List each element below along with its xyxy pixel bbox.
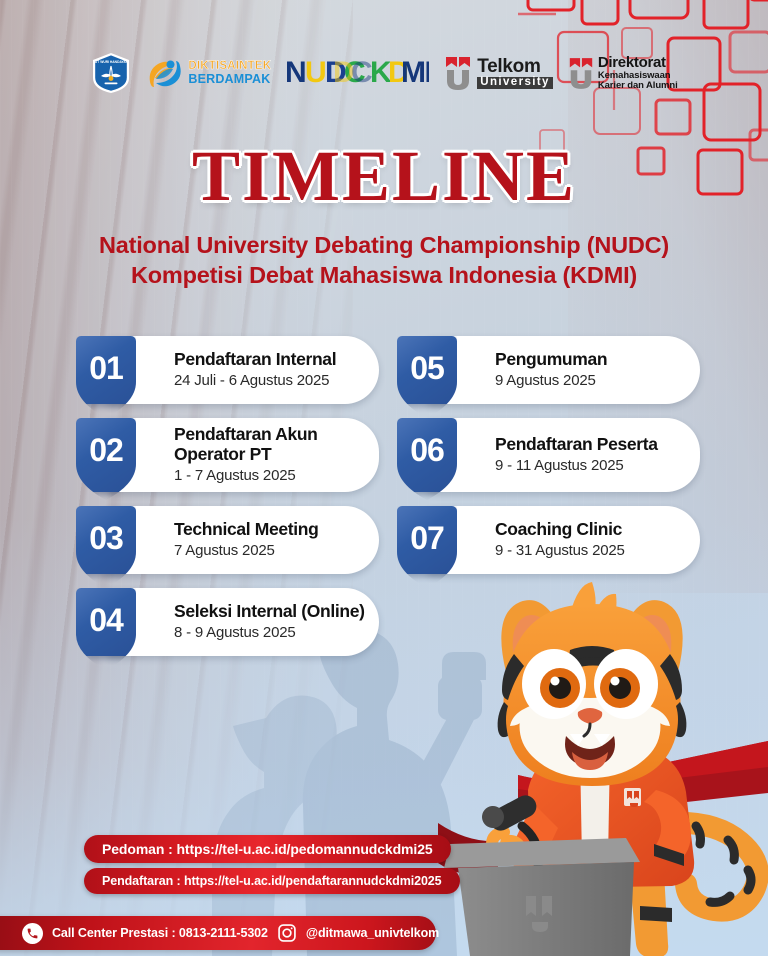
timeline-title: Pendaftaran Akun Operator PT xyxy=(174,425,367,464)
timeline-number: 04 xyxy=(89,604,123,636)
call-center-text: Call Center Prestasi : 0813-2111-5302 xyxy=(52,926,268,940)
svg-text:N: N xyxy=(285,56,305,89)
timeline-item-06: Pendaftaran Peserta 9 - 11 Agustus 2025 … xyxy=(397,418,700,492)
link-pills: Pedoman : https://tel-u.ac.id/pedomannud… xyxy=(84,835,460,894)
timeline-date: 7 Agustus 2025 xyxy=(174,542,367,560)
page-title: TIMELINE xyxy=(0,140,768,212)
timeline-card: Seleksi Internal (Online) 8 - 9 Agustus … xyxy=(106,588,379,656)
instagram-icon[interactable] xyxy=(277,923,297,943)
timeline-date: 9 - 31 Agustus 2025 xyxy=(495,542,688,560)
phone-icon xyxy=(22,923,43,944)
svg-text:TUT WURI HANDAYANI: TUT WURI HANDAYANI xyxy=(93,60,129,64)
timeline-number-badge: 01 xyxy=(76,336,136,404)
timeline-item-05: Pengumuman 9 Agustus 2025 05 xyxy=(397,336,700,404)
timeline-number-badge: 07 xyxy=(397,506,457,574)
subtitle: National University Debating Championshi… xyxy=(0,230,768,290)
telkom-university-logo: Telkom University xyxy=(443,55,553,91)
timeline-number-badge: 05 xyxy=(397,336,457,404)
diktisaintek-logo: DIKTISAINTEK BERDAMPAK xyxy=(146,56,271,90)
timeline-title: Pendaftaran Internal xyxy=(174,350,367,370)
timeline-item-04: Seleksi Internal (Online) 8 - 9 Agustus … xyxy=(76,588,379,656)
podium xyxy=(444,838,640,956)
logo-bar: TUT WURI HANDAYANI DIKTISAINTEK BERDAMPA… xyxy=(0,52,768,94)
timeline-number: 03 xyxy=(89,522,123,554)
subtitle-line2: Kompetisi Debat Mahasiswa Indonesia (KDM… xyxy=(0,260,768,290)
timeline-date: 9 - 11 Agustus 2025 xyxy=(495,457,688,475)
tiger-mascot xyxy=(444,576,768,956)
timeline-number: 06 xyxy=(410,434,444,466)
svg-text:MI: MI xyxy=(403,56,429,89)
footer-bar: Call Center Prestasi : 0813-2111-5302 @d… xyxy=(0,916,436,950)
direktorat-line1: Direktorat xyxy=(598,55,678,71)
telkom-line1: Telkom xyxy=(477,57,553,76)
timeline-date: 1 - 7 Agustus 2025 xyxy=(174,467,367,485)
telkom-line2: University xyxy=(477,77,553,89)
diktisaintek-line2: BERDAMPAK xyxy=(188,73,271,86)
timeline-number-badge: 04 xyxy=(76,588,136,656)
tut-wuri-handayani-logo: TUT WURI HANDAYANI xyxy=(90,52,132,94)
pendaftaran-link-pill[interactable]: Pendaftaran : https://tel-u.ac.id/pendaf… xyxy=(84,868,460,894)
timeline-number: 02 xyxy=(89,434,123,466)
nudc-kdmi-logo: N U D C K D D C MI xyxy=(285,56,429,90)
timeline-card: Pendaftaran Peserta 9 - 11 Agustus 2025 xyxy=(427,418,700,492)
timeline-title-line1: Pendaftaran Akun xyxy=(174,425,367,445)
timeline-card: Pendaftaran Akun Operator PT 1 - 7 Agust… xyxy=(106,418,379,492)
timeline-title: Coaching Clinic xyxy=(495,520,688,540)
timeline-date: 9 Agustus 2025 xyxy=(495,372,688,390)
timeline-date: 24 Juli - 6 Agustus 2025 xyxy=(174,372,367,390)
svg-text:C: C xyxy=(351,56,372,89)
title-block: TIMELINE National University Debating Ch… xyxy=(0,140,768,290)
pedoman-link-pill[interactable]: Pedoman : https://tel-u.ac.id/pedomannud… xyxy=(84,835,451,863)
timeline-item-02: Pendaftaran Akun Operator PT 1 - 7 Agust… xyxy=(76,418,379,492)
direktorat-logo: Direktorat Kemahasiswaan Karier dan Alum… xyxy=(567,55,678,91)
timeline-date: 8 - 9 Agustus 2025 xyxy=(174,624,367,642)
timeline-item-01: Pendaftaran Internal 24 Juli - 6 Agustus… xyxy=(76,336,379,404)
timeline-card: Coaching Clinic 9 - 31 Agustus 2025 xyxy=(427,506,700,574)
poster-root: TUT WURI HANDAYANI DIKTISAINTEK BERDAMPA… xyxy=(0,0,768,956)
mascot-head xyxy=(498,582,687,786)
timeline-card: Technical Meeting 7 Agustus 2025 xyxy=(106,506,379,574)
timeline-number: 01 xyxy=(89,352,123,384)
timeline-card: Pendaftaran Internal 24 Juli - 6 Agustus… xyxy=(106,336,379,404)
timeline-title: Pendaftaran Peserta xyxy=(495,435,688,455)
timeline-card: Pengumuman 9 Agustus 2025 xyxy=(427,336,700,404)
subtitle-line1: National University Debating Championshi… xyxy=(0,230,768,260)
diktisaintek-mark xyxy=(146,56,184,90)
instagram-handle: @ditmawa_univtelkom xyxy=(306,926,439,940)
timeline-item-03: Technical Meeting 7 Agustus 2025 03 xyxy=(76,506,379,574)
timeline-number: 07 xyxy=(410,522,444,554)
timeline-number-badge: 03 xyxy=(76,506,136,574)
direktorat-line3: Karier dan Alumni xyxy=(598,81,678,91)
timeline-number-badge: 02 xyxy=(76,418,136,492)
timeline-title: Pengumuman xyxy=(495,350,688,370)
timeline-number-badge: 06 xyxy=(397,418,457,492)
timeline-number: 05 xyxy=(410,352,444,384)
timeline-title: Technical Meeting xyxy=(174,520,367,540)
diktisaintek-line1: DIKTISAINTEK xyxy=(188,61,271,73)
timeline-item-07: Coaching Clinic 9 - 31 Agustus 2025 07 xyxy=(397,506,700,574)
timeline-title: Seleksi Internal (Online) xyxy=(174,602,367,622)
svg-text:U: U xyxy=(305,56,325,89)
timeline-title-line2: Operator PT xyxy=(174,445,367,465)
